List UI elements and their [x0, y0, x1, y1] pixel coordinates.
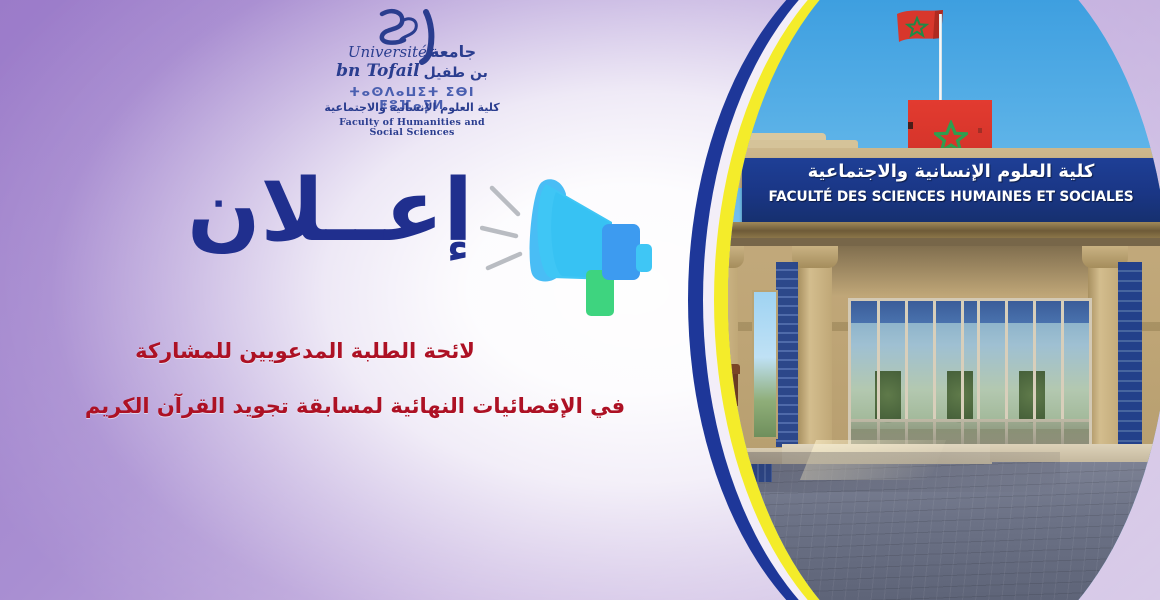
- faculty-sign-arabic: كلية العلوم الإنسانية والاجتماعية: [752, 163, 1150, 181]
- logo-english-faculty: Faculty of Humanities and Social Science…: [322, 118, 502, 139]
- page-title: إعــلان: [170, 168, 490, 254]
- megaphone-speed-lines: [482, 188, 520, 268]
- plaza-shadow: [730, 452, 1060, 492]
- portico-beam: [728, 222, 1160, 238]
- column-capital-2: [792, 246, 838, 268]
- panel-detail-left: [908, 122, 913, 129]
- facade-column-3: [1088, 246, 1122, 446]
- moroccan-flag-icon: [895, 8, 945, 52]
- subtitle-line-1: لائحة الطلبة المدعويين للمشاركة: [40, 340, 570, 363]
- door-sky-reflection: [851, 301, 1089, 323]
- portico-shadow: [830, 246, 1100, 296]
- faculty-sign-french: FACULTÉ DES SCIENCES HUMAINES ET SOCIALE…: [760, 190, 1142, 205]
- chair: [728, 372, 738, 406]
- facade-column-2: [798, 246, 832, 446]
- facade-column-1: [728, 246, 738, 446]
- portico-beam-shadow: [728, 238, 1160, 246]
- logo-french-name: bn Tofail: [336, 63, 419, 80]
- panel-detail-right: [978, 128, 982, 133]
- faculty-photo-panel: كلية العلوم الإنسانية والاجتماعية FACULT…: [690, 0, 1160, 600]
- main-entrance-doors: [848, 298, 1092, 452]
- logo-secondary-line: بن طفيل bn Tofail: [322, 63, 502, 80]
- university-logo: جامعة Université بن طفيل bn Tofail ⵜⴰⵙⴷⴰ…: [322, 6, 502, 146]
- flag-pole: [939, 14, 942, 106]
- megaphone-nub: [636, 244, 652, 272]
- subtitle-block: لائحة الطلبة المدعويين للمشاركة في الإقص…: [40, 340, 670, 418]
- logo-french-university: Université: [348, 45, 427, 60]
- mosaic-tile-column-right: [1118, 262, 1142, 452]
- megaphone-icon: [480, 158, 665, 323]
- announcement-poster: جامعة Université بن طفيل bn Tofail ⵜⴰⵙⴷⴰ…: [0, 0, 1160, 600]
- logo-primary-line: جامعة Université: [322, 44, 502, 60]
- mosaic-tile-column-left: [776, 262, 798, 447]
- faculty-building-photo: كلية العلوم الإنسانية والاجتماعية FACULT…: [728, 0, 1160, 600]
- logo-arabic-university: جامعة: [430, 44, 476, 60]
- subtitle-line-2: في الإقصائيات النهائية لمسابقة تجويد الق…: [40, 395, 670, 418]
- side-window: [752, 290, 778, 439]
- logo-arabic-faculty: كلية العلوم الإنسانية والاجتماعية: [322, 102, 502, 114]
- logo-arabic-name: بن طفيل: [424, 66, 488, 80]
- faculty-sign: كلية العلوم الإنسانية والاجتماعية FACULT…: [742, 158, 1160, 222]
- megaphone-body: [602, 224, 640, 280]
